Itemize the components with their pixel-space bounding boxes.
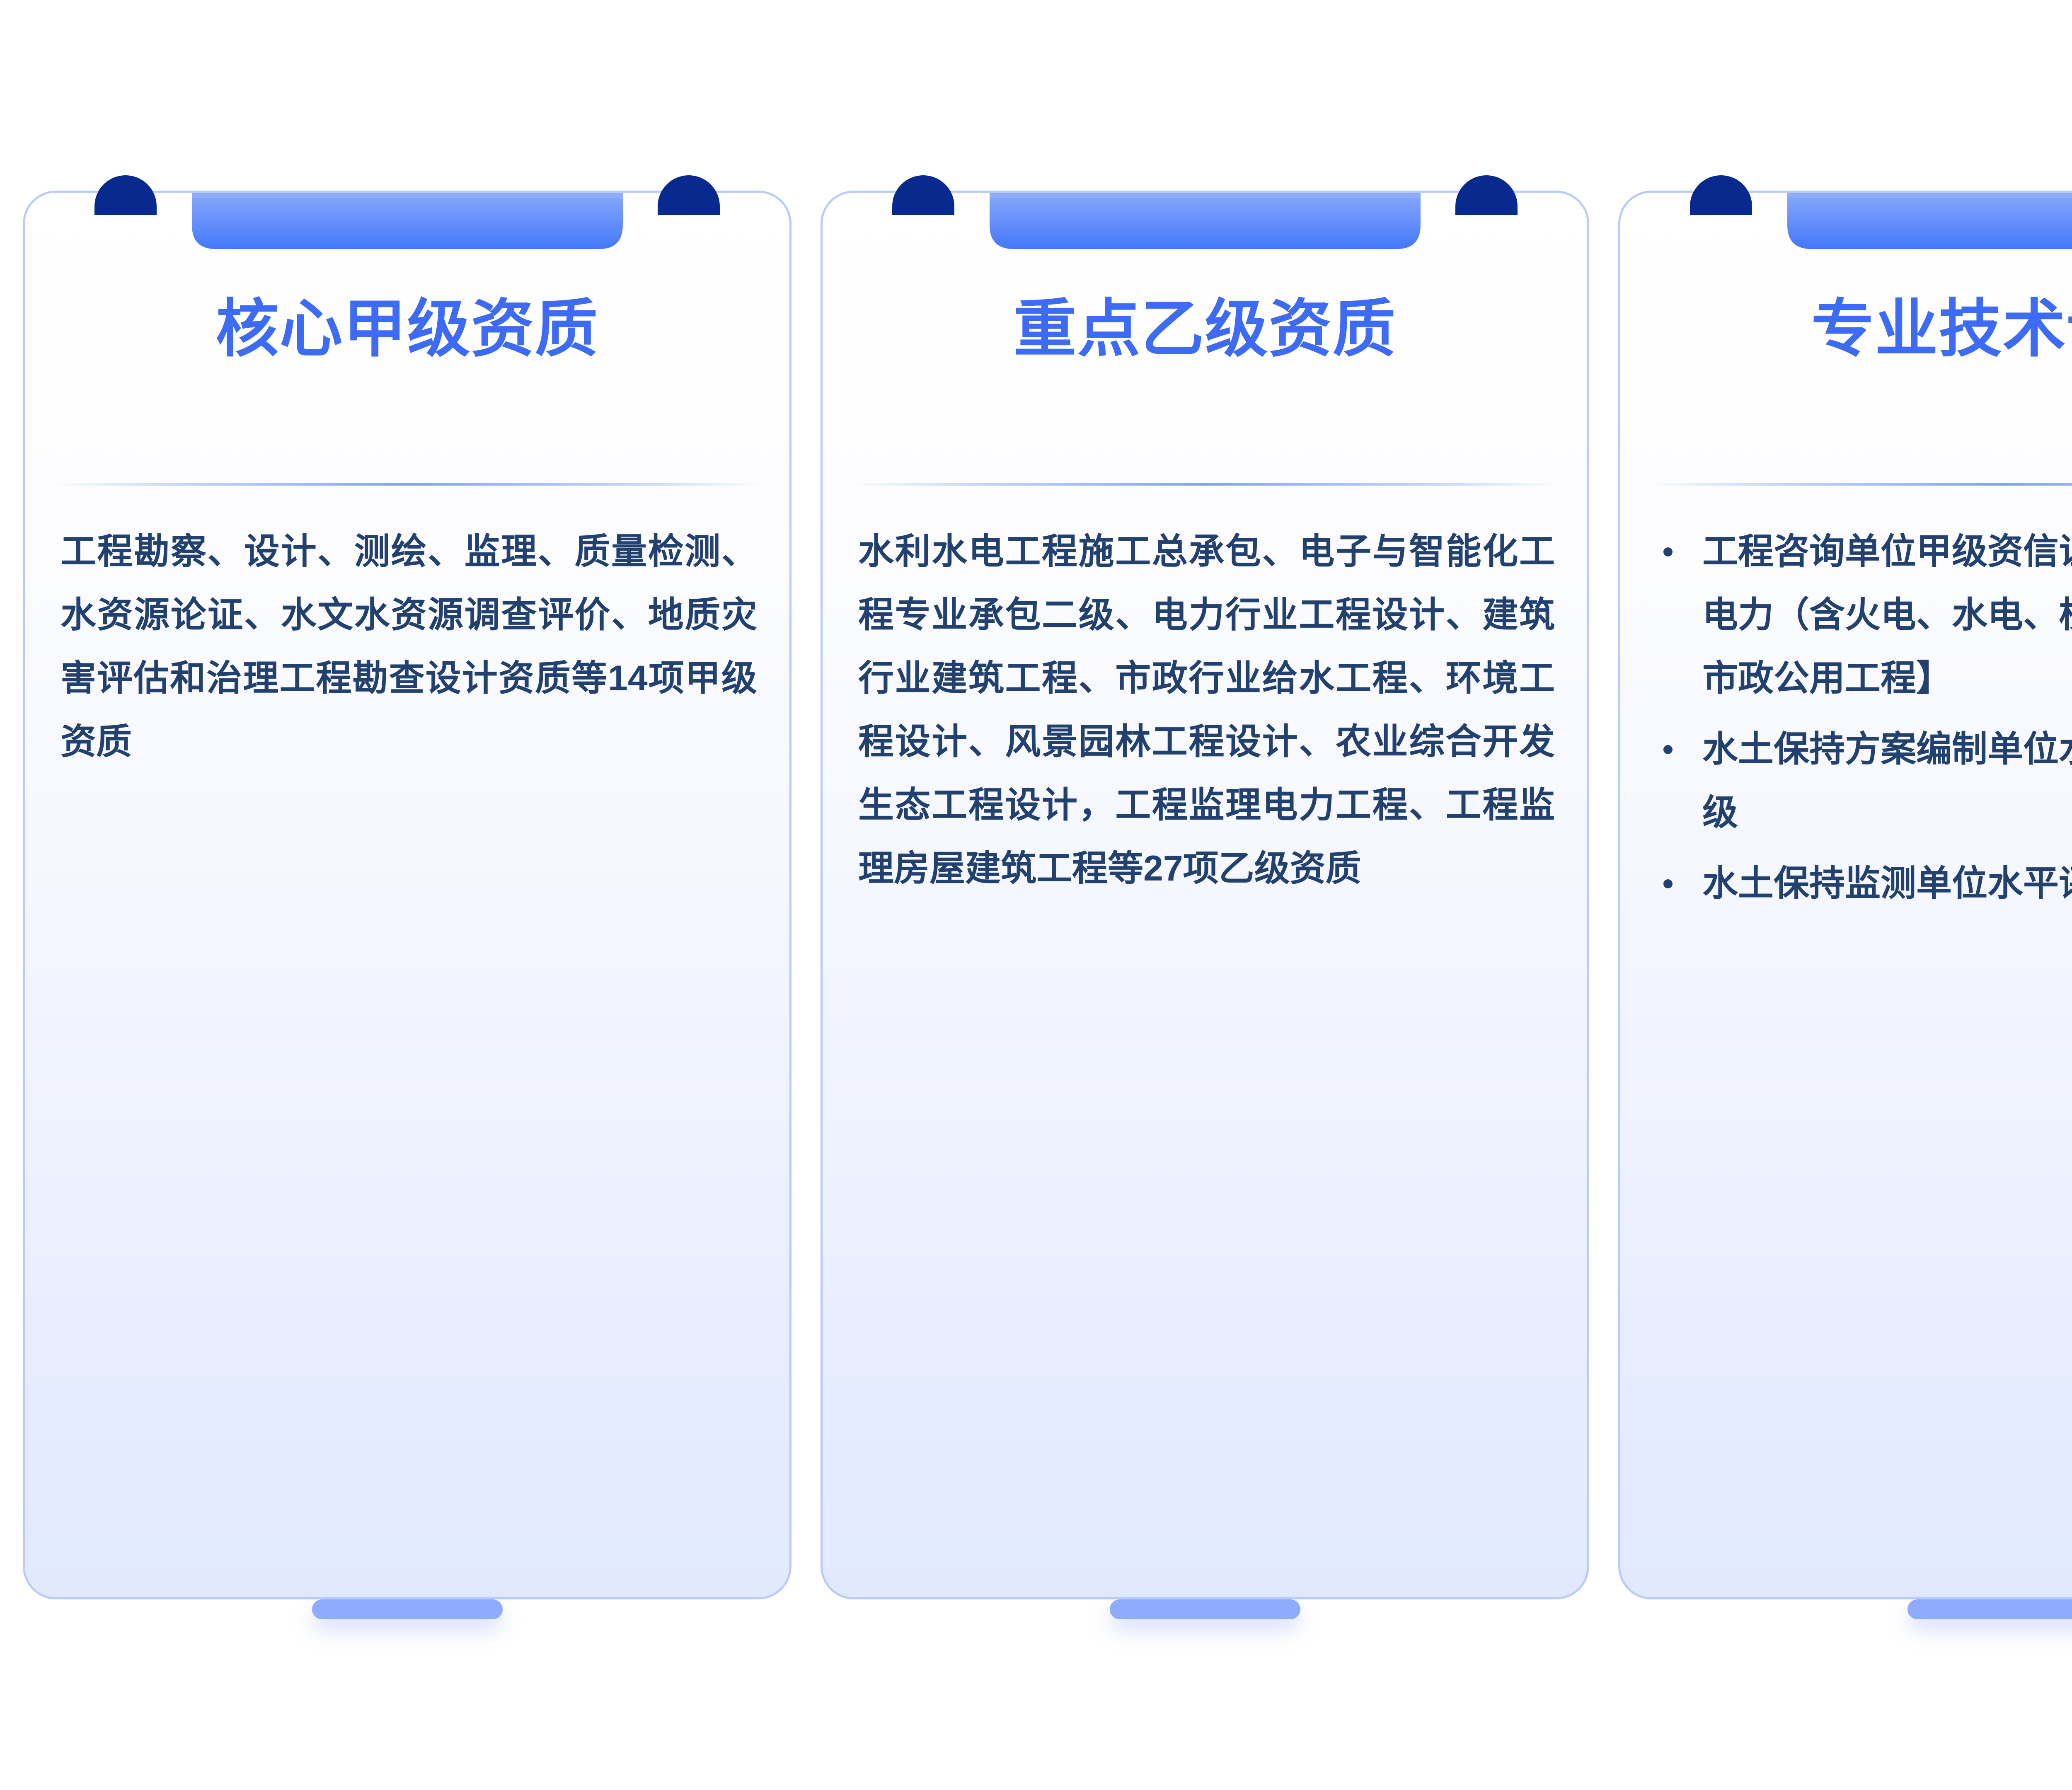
body-paragraph: 水利水电工程施工总承包、电子与智能化工程专业承包二级、电力行业工程设计、建筑行业… xyxy=(858,520,1555,900)
list-item: 水土保持监测单位水平评价证书五星级 xyxy=(1656,852,2072,915)
card-title: 重点乙级资质 xyxy=(823,296,1587,363)
card-body: 工程咨询单位甲级资信证书【水利水电、电力（含火电、水电、核电、新能源）、市政公用… xyxy=(1620,520,2072,923)
bullet-dot-icon xyxy=(1663,745,1673,754)
ribbon-tab-icon xyxy=(1787,175,2072,262)
card-foot-bar xyxy=(312,1599,503,1619)
card-professional-certification[interactable]: 专业技术认证 工程咨询单位甲级资信证书【水利水电、电力（含火电、水电、核电、新能… xyxy=(1618,191,2072,1641)
card-surface: 专业技术认证 工程咨询单位甲级资信证书【水利水电、电力（含火电、水电、核电、新能… xyxy=(1618,191,2072,1599)
card-foot-bar xyxy=(1110,1599,1300,1619)
card-title: 核心甲级资质 xyxy=(25,296,789,363)
card-foot-bar xyxy=(1907,1599,2072,1619)
card-title: 专业技术认证 xyxy=(1620,296,2072,363)
peg-left-icon xyxy=(1690,175,1752,215)
title-divider xyxy=(1647,483,2072,486)
body-paragraph: 工程勘察、设计、测绘、监理、质量检测、水资源论证、水文水资源调查评价、地质灾害评… xyxy=(61,520,757,774)
card-core-grade-a[interactable]: 核心甲级资质 工程勘察、设计、测绘、监理、质量检测、水资源论证、水文水资源调查评… xyxy=(23,191,792,1641)
bullet-dot-icon xyxy=(1663,547,1673,556)
card-key-grade-b[interactable]: 重点乙级资质 水利水电工程施工总承包、电子与智能化工程专业承包二级、电力行业工程… xyxy=(821,191,1589,1641)
title-divider xyxy=(51,483,763,486)
list-item: 水土保持方案编制单位水平评价证书四星级 xyxy=(1656,718,2072,844)
card-body: 工程勘察、设计、测绘、监理、质量检测、水资源论证、水文水资源调查评价、地质灾害评… xyxy=(25,520,789,774)
card-surface: 核心甲级资质 工程勘察、设计、测绘、监理、质量检测、水资源论证、水文水资源调查评… xyxy=(23,191,792,1599)
peg-right-icon xyxy=(658,175,720,215)
bullet-dot-icon xyxy=(1663,879,1673,888)
ribbon-tab-icon xyxy=(192,175,623,262)
card-body: 水利水电工程施工总承包、电子与智能化工程专业承包二级、电力行业工程设计、建筑行业… xyxy=(823,520,1587,900)
qualifications-board: 核心甲级资质 工程勘察、设计、测绘、监理、质量检测、水资源论证、水文水资源调查评… xyxy=(0,0,2072,1790)
title-divider xyxy=(849,483,1561,486)
peg-right-icon xyxy=(1455,175,1518,215)
list-item-label: 水土保持方案编制单位水平评价证书四星级 xyxy=(1702,729,2072,832)
list-item-label: 水土保持监测单位水平评价证书五星级 xyxy=(1702,864,2072,903)
card-surface: 重点乙级资质 水利水电工程施工总承包、电子与智能化工程专业承包二级、电力行业工程… xyxy=(821,191,1589,1599)
bullet-list: 工程咨询单位甲级资信证书【水利水电、电力（含火电、水电、核电、新能源）、市政公用… xyxy=(1656,520,2072,915)
cards-row: 核心甲级资质 工程勘察、设计、测绘、监理、质量检测、水资源论证、水文水资源调查评… xyxy=(0,0,2072,1790)
ribbon-tab-icon xyxy=(990,175,1421,262)
list-item-label: 工程咨询单位甲级资信证书【水利水电、电力（含火电、水电、核电、新能源）、市政公用… xyxy=(1702,532,2072,698)
peg-left-icon xyxy=(94,175,157,215)
list-item: 工程咨询单位甲级资信证书【水利水电、电力（含火电、水电、核电、新能源）、市政公用… xyxy=(1656,520,2072,710)
peg-left-icon xyxy=(892,175,954,215)
